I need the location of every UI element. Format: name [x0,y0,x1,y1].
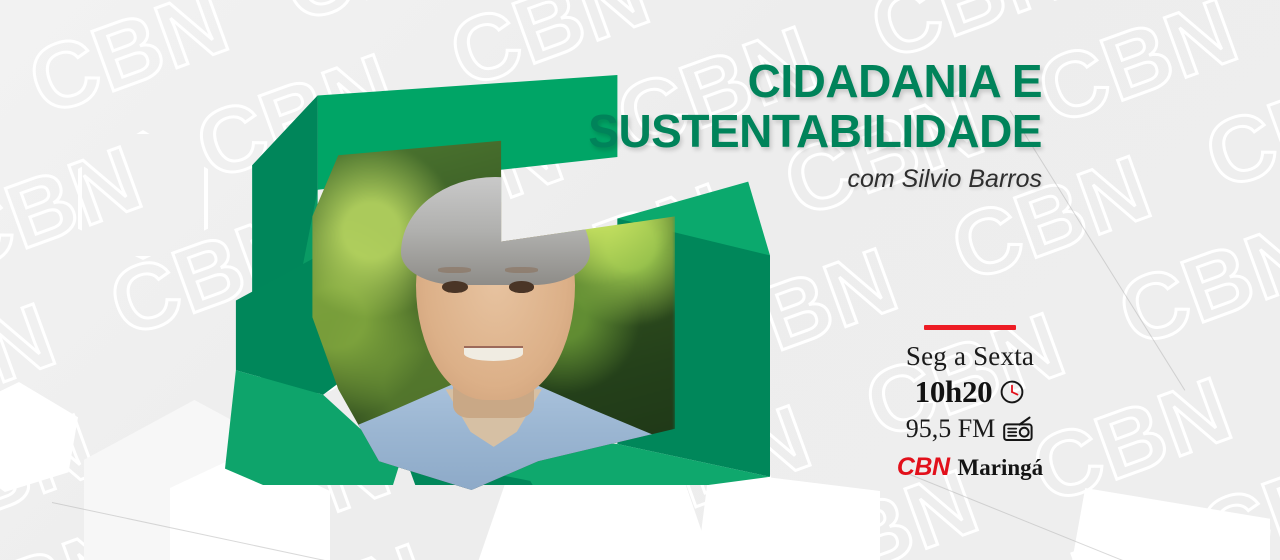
clock-icon [999,379,1025,405]
program-host-subtitle: com Silvio Barros [422,164,1042,194]
program-title-line-2: SUSTENTABILIDADE [422,106,1042,156]
portrait-eye-right [509,281,535,293]
schedule-time: 10h20 [915,374,993,410]
schedule-time-row: 10h20 [880,374,1060,410]
station-city: Maringá [958,455,1044,481]
schedule-days: Seg a Sexta [880,340,1060,372]
program-title-line-1: CIDADANIA E [422,56,1042,106]
portrait-eyebrow-left [438,267,471,273]
portrait-eye-left [442,281,468,293]
schedule-block: Seg a Sexta 10h20 95,5 FM CBN Maringá [880,325,1060,481]
portrait-eyebrow-right [505,267,538,273]
radio-icon [1002,416,1034,442]
cbn-program-banner: CBNCBNCBNCBNCBNCBNCBNCBNCBNCBNCBNCBNCBNC… [0,0,1280,560]
schedule-frequency-row: 95,5 FM [880,413,1060,445]
station-logo: CBN Maringá [880,454,1060,481]
schedule-frequency: 95,5 FM [906,413,996,445]
program-title-block: CIDADANIA E SUSTENTABILIDADE com Silvio … [422,56,1042,194]
portrait-smile [464,346,523,361]
accent-bar [924,325,1016,330]
station-brand: CBN [897,454,950,480]
